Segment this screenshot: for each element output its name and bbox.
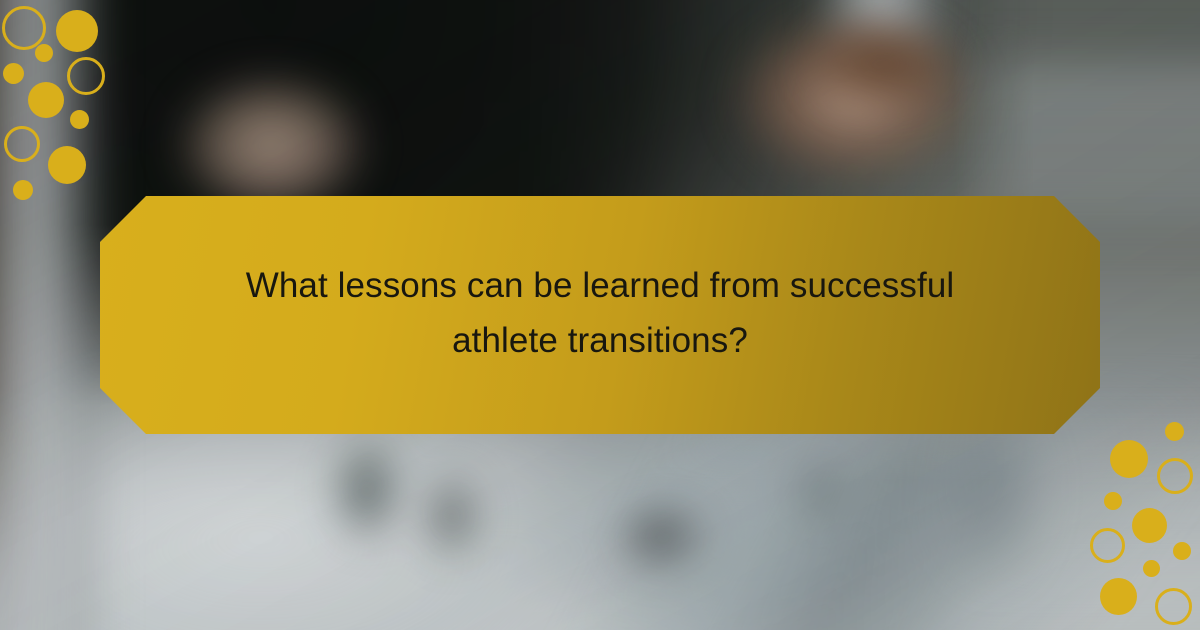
share-card: What lessons can be learned from success… bbox=[0, 0, 1200, 630]
question-title: What lessons can be learned from success… bbox=[200, 258, 1000, 372]
question-banner: What lessons can be learned from success… bbox=[100, 196, 1100, 434]
